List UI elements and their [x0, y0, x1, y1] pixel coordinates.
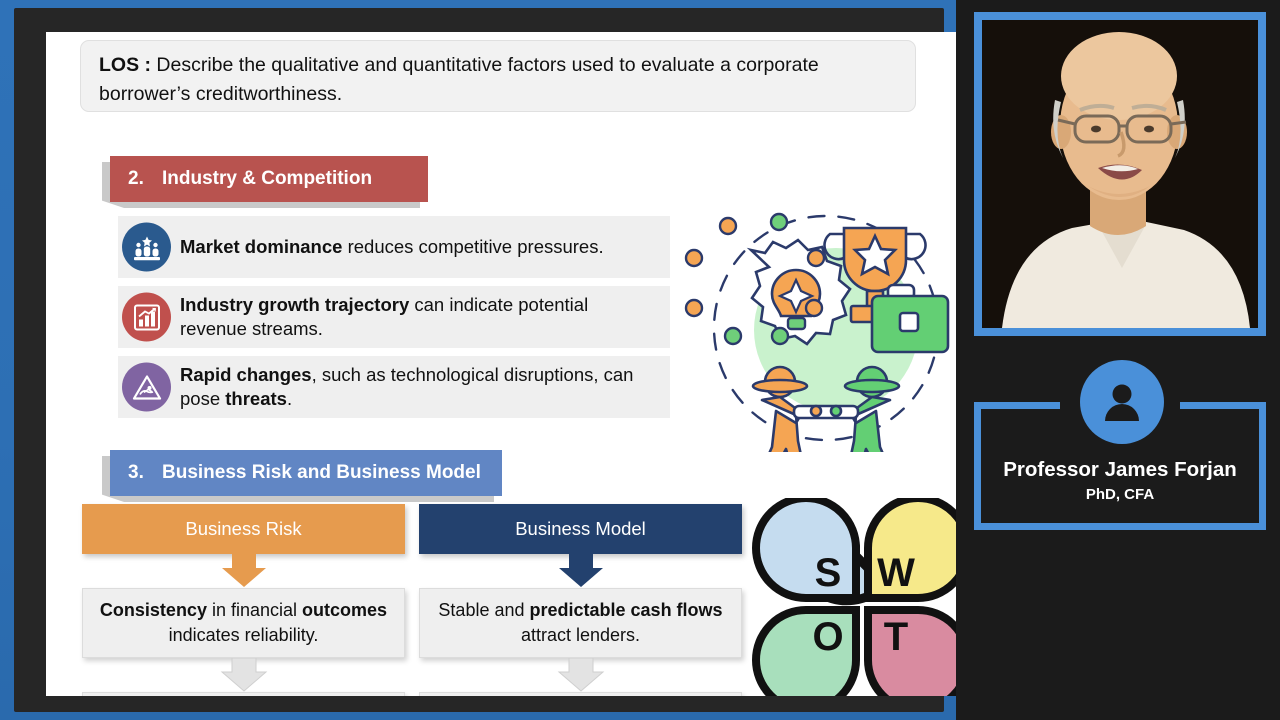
box-mid: Stable and	[438, 600, 529, 620]
bullet-tail: .	[287, 388, 292, 409]
person-avatar-icon	[1080, 360, 1164, 444]
column-header: Business Risk	[82, 504, 405, 554]
list-item-text: Industry growth trajectory can indicate …	[180, 293, 660, 341]
slide-frame: LOS : Describe the qualitative and quant…	[0, 0, 956, 720]
column-header: Business Model	[419, 504, 742, 554]
section-title: Business Risk and Business Model	[162, 462, 481, 484]
swot-letter-o: O	[812, 615, 843, 659]
list-item: Rapid changes, such as technological dis…	[118, 356, 670, 418]
warning-triangle-icon	[122, 363, 171, 412]
los-label: LOS :	[99, 54, 151, 76]
column-business-risk: Business Risk Consistency in financial o…	[82, 504, 405, 696]
column-business-model: Business Model Stable and predictable ca…	[419, 504, 742, 696]
bullet-bold: Market dominance	[180, 236, 342, 257]
bullet-bold: Industry growth trajectory	[180, 294, 409, 315]
column-box: Stable and predictable cash flows attrac…	[419, 588, 742, 658]
arrow-down-icon	[419, 658, 742, 692]
box-bold2: predictable cash flows	[530, 600, 723, 620]
right-sidebar: Professor James Forjan PhD, CFA ANALYST …	[956, 0, 1280, 720]
column-box: Asset quality ensures additional securit…	[419, 692, 742, 696]
section-banner-business-risk: 3. Business Risk and Business Model	[110, 450, 502, 496]
risk-model-columns: Business Risk Consistency in financial o…	[82, 504, 742, 696]
bullet-list: Market dominance reduces competitive pre…	[118, 216, 670, 426]
arrow-down-icon	[82, 658, 405, 692]
podium-winner-icon	[122, 223, 171, 272]
professor-card: Professor James Forjan PhD, CFA	[974, 360, 1266, 530]
swot-diagram: S W O T	[746, 498, 958, 696]
banner-body: 3. Business Risk and Business Model	[110, 450, 502, 496]
swot-letter-t: T	[884, 615, 908, 659]
los-text: Describe the qualitative and quantitativ…	[99, 54, 819, 105]
swot-letter-s: S	[815, 551, 842, 595]
slide-dark-border: LOS : Describe the qualitative and quant…	[14, 8, 944, 712]
box-bold2: outcomes	[302, 600, 387, 620]
instructor-video-thumbnail[interactable]	[974, 12, 1266, 336]
section-number: 3.	[128, 462, 162, 484]
list-item: Market dominance reduces competitive pre…	[118, 216, 670, 278]
video-image	[982, 20, 1258, 328]
los-statement: LOS : Describe the qualitative and quant…	[80, 40, 916, 112]
box-tail: attract lenders.	[521, 625, 640, 645]
bullet-bold2: threats	[225, 388, 287, 409]
swot-letter-w: W	[877, 551, 915, 595]
box-mid: in financial	[207, 600, 302, 620]
list-item-text: Rapid changes, such as technological dis…	[180, 363, 660, 411]
bullet-rest: reduces competitive pressures.	[342, 236, 603, 257]
section-number: 2.	[128, 168, 162, 190]
section-banner-industry: 2. Industry & Competition	[110, 156, 428, 202]
bullet-bold: Rapid changes	[180, 364, 312, 385]
screen: LOS : Describe the qualitative and quant…	[0, 0, 1280, 720]
list-item: Industry growth trajectory can indicate …	[118, 286, 670, 348]
business-collaboration-illustration	[676, 200, 958, 452]
column-box: Resilience during economic downturns is …	[82, 692, 405, 696]
box-bold: Consistency	[100, 600, 207, 620]
box-tail: indicates reliability.	[169, 625, 319, 645]
slide-canvas: LOS : Describe the qualitative and quant…	[46, 32, 958, 696]
column-box: Consistency in financial outcomes indica…	[82, 588, 405, 658]
professor-credentials: PhD, CFA	[974, 486, 1266, 503]
bar-chart-growth-icon	[122, 293, 171, 342]
arrow-down-icon	[82, 554, 405, 588]
professor-name: Professor James Forjan	[974, 458, 1266, 482]
section-title: Industry & Competition	[162, 168, 372, 190]
list-item-text: Market dominance reduces competitive pre…	[180, 235, 604, 259]
banner-body: 2. Industry & Competition	[110, 156, 428, 202]
arrow-down-icon	[419, 554, 742, 588]
